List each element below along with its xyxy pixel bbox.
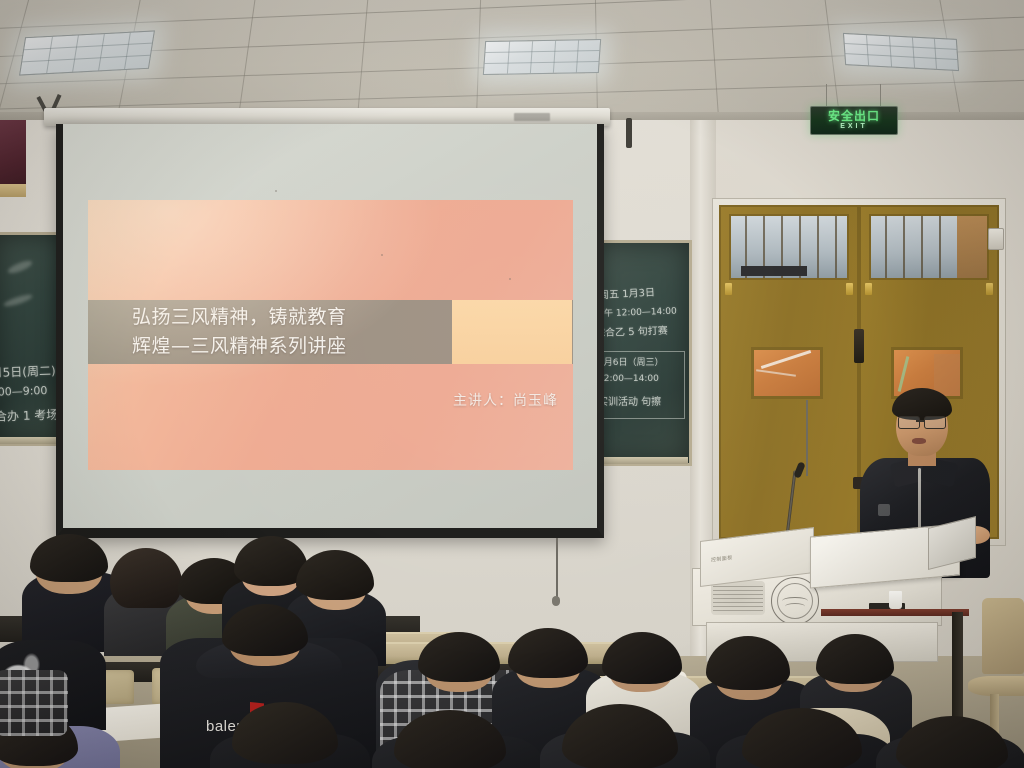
audience-seating-area: balen: [0, 520, 1024, 768]
eyeglasses-right-lens: [924, 416, 946, 429]
slide-title-line-2: 辉煌—三风精神系列讲座: [132, 332, 452, 361]
ceiling-light-panel: [483, 39, 601, 75]
exit-sign: 安全出口 EXIT: [810, 106, 898, 135]
screen-dust-speck: [275, 190, 277, 192]
slide-title-line-1: 弘扬三风精神，铸就教育: [132, 303, 452, 332]
blackboard-right-line-3: 综合乙 5 句打赛: [595, 322, 668, 340]
blackboard-right-line-1: 周五 1月3日: [599, 284, 656, 302]
ceiling-light-panel: [19, 30, 155, 75]
student-hair-long: [110, 548, 182, 608]
student-hair: [706, 636, 790, 690]
student-hair: [30, 534, 108, 582]
slide-accent-block: [452, 300, 572, 364]
screen-dust-speck: [381, 254, 383, 256]
microphone-cable: [806, 400, 808, 476]
blackboard-right-line-4: 1月6日（周三）: [598, 355, 663, 368]
blackboard-right-line-6: 实训活动 句擦: [598, 393, 661, 408]
ceiling-light-panel: [843, 33, 959, 71]
door-transom-window-right: [869, 214, 989, 280]
projector-screen: 弘扬三风精神，铸就教育 辉煌—三风精神系列讲座 主讲人：尚玉峰: [56, 124, 604, 538]
door-vision-panel-left: [751, 347, 823, 399]
exit-sign-chinese-label: 安全出口: [828, 110, 880, 123]
slide-subtitle: 主讲人：尚玉峰: [388, 390, 558, 410]
screen-brand-mark: [514, 113, 550, 121]
wall-pipe: [626, 118, 632, 148]
student-hair: [296, 550, 374, 600]
exit-sign-wire: [880, 84, 881, 108]
blackboard-right-line-2: 中午 12:00—14:00: [595, 304, 677, 320]
presentation-slide: 弘扬三风精神，铸就教育 辉煌—三风精神系列讲座 主讲人：尚玉峰: [88, 200, 573, 470]
speaker-mouth: [912, 438, 926, 444]
door-hinge: [986, 283, 993, 295]
exit-sign-wire: [826, 84, 827, 108]
blackboard-left-line-1: 1月5日(周二): [0, 362, 56, 382]
speaker-jacket-badge: [878, 504, 890, 516]
door-hinge: [725, 283, 732, 295]
blackboard-left-line-2: 7:00—9:00: [0, 384, 48, 399]
wall-banner-trim: [0, 184, 26, 197]
blackboard-left-tray: [0, 437, 64, 444]
door-sensor: [988, 228, 1004, 250]
student-plaid-sleeve: [0, 670, 68, 736]
door-hinge: [865, 283, 872, 295]
door-handle[interactable]: [854, 329, 864, 363]
student-hair: [508, 628, 588, 678]
blackboard-left-line-3: 综合办 1 考场: [0, 406, 59, 426]
projector-screen-surface: 弘扬三风精神，铸就教育 辉煌—三风精神系列讲座 主讲人：尚玉峰: [63, 124, 597, 528]
exit-sign-english-label: EXIT: [840, 123, 868, 131]
student-hair: [896, 716, 1008, 768]
wall-banner: [0, 120, 26, 188]
ceiling: [0, 0, 1024, 118]
lecture-hall-scene: 1月5日(周二) 7:00—9:00 综合办 1 考场 周五 1月3日 中午 1…: [0, 0, 1024, 768]
door-leaf-left[interactable]: [719, 205, 859, 539]
door-transom-window-left: [729, 214, 849, 280]
screen-dust-speck: [509, 278, 511, 280]
slide-title: 弘扬三风精神，铸就教育 辉煌—三风精神系列讲座: [132, 300, 452, 364]
student-hair: [816, 634, 894, 684]
student-hair: [602, 632, 682, 684]
eyeglasses-bridge: [916, 420, 924, 422]
door-hinge: [846, 283, 853, 295]
blackboard-right-line-5: 12:00—14:00: [598, 374, 659, 384]
eyeglasses-left-lens: [898, 416, 920, 429]
blackboard-right: 周五 1月3日 中午 12:00—14:00 综合乙 5 句打赛 1月6日（周三…: [590, 240, 692, 466]
